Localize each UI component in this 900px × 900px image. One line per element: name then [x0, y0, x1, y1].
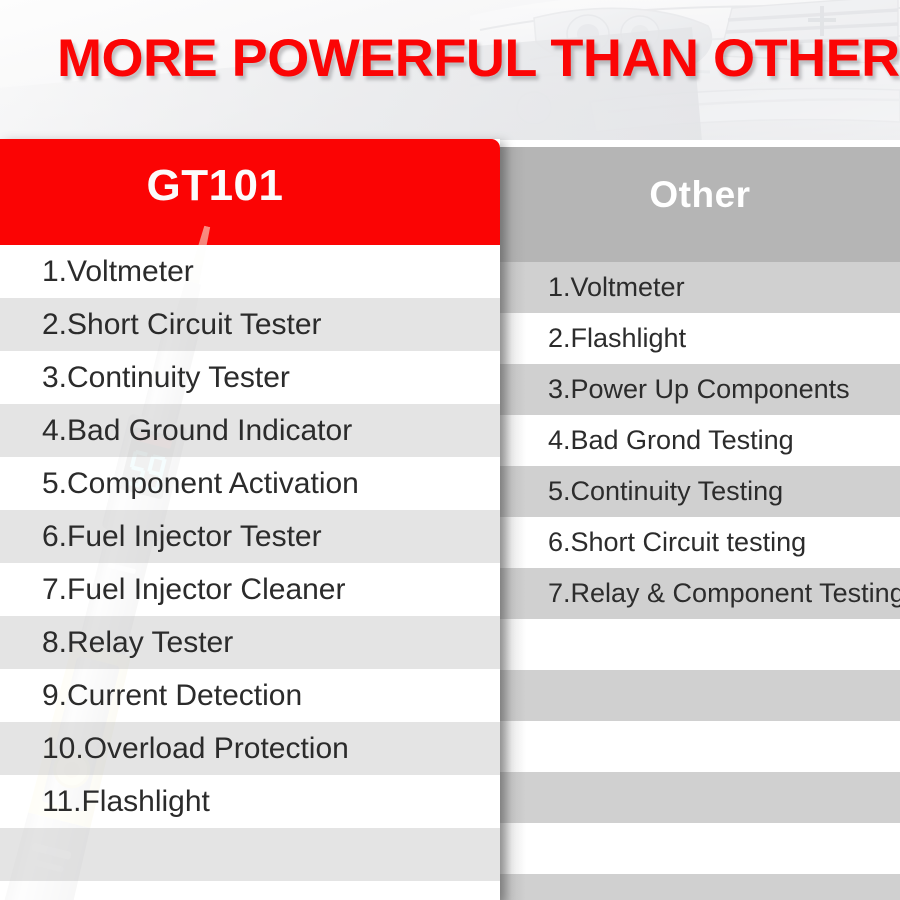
list-item: 5.Continuity Testing	[500, 466, 900, 517]
product-comparison-infographic: MORE POWERFUL THAN OTHERS Other 1.Voltme…	[0, 0, 900, 900]
other-item-label: 2.Flashlight	[548, 323, 686, 354]
list-item: 6.Short Circuit testing	[500, 517, 900, 568]
gt101-item-label: 10.Overload Protection	[42, 732, 349, 766]
list-item: 6.Fuel Injector Tester	[0, 510, 500, 563]
list-item: 1.Voltmeter	[0, 245, 500, 298]
gt101-item-label: 8.Relay Tester	[42, 626, 233, 660]
other-item-label: 3.Power Up Components	[548, 374, 850, 405]
list-item: 4.Bad Grond Testing	[500, 415, 900, 466]
other-feature-list: 1.Voltmeter 2.Flashlight 3.Power Up Comp…	[500, 262, 900, 900]
list-item-empty	[500, 619, 900, 670]
list-item: 3.Continuity Tester	[0, 351, 500, 404]
list-item: 10.Overload Protection	[0, 722, 500, 775]
gt101-feature-list: 1.Voltmeter 2.Short Circuit Tester 3.Con…	[0, 245, 500, 900]
list-item: 2.Short Circuit Tester	[0, 298, 500, 351]
other-item-label: 1.Voltmeter	[548, 272, 685, 303]
gt101-item-label: 3.Continuity Tester	[42, 361, 290, 395]
list-item-empty	[500, 874, 900, 900]
list-item: 8.Relay Tester	[0, 616, 500, 669]
list-item: 11.Flashlight	[0, 775, 500, 828]
list-item-empty	[0, 828, 500, 881]
list-item-empty	[500, 823, 900, 874]
other-column-header: Other	[500, 147, 900, 262]
other-item-label: 4.Bad Grond Testing	[548, 425, 794, 456]
list-item-empty	[0, 881, 500, 900]
other-item-label: 5.Continuity Testing	[548, 476, 783, 507]
hero-banner: MORE POWERFUL THAN OTHERS	[0, 0, 900, 140]
list-item-empty	[500, 721, 900, 772]
gt101-column-header: GT101	[0, 139, 500, 245]
list-item: 7.Relay & Component Testing	[500, 568, 900, 619]
gt101-item-label: 1.Voltmeter	[42, 255, 194, 289]
gt101-item-label: 2.Short Circuit Tester	[42, 308, 322, 342]
other-column-title: Other	[500, 174, 900, 216]
gt101-item-label: 7.Fuel Injector Cleaner	[42, 573, 346, 607]
gt101-item-label: 9.Current Detection	[42, 679, 302, 713]
gt101-column-title: GT101	[0, 161, 430, 211]
list-item: 9.Current Detection	[0, 669, 500, 722]
gt101-item-label: 5.Component Activation	[42, 467, 359, 501]
gt101-item-label: 4.Bad Ground Indicator	[42, 414, 352, 448]
comparison-column-other: Other 1.Voltmeter 2.Flashlight 3.Power U…	[500, 147, 900, 900]
list-item: 2.Flashlight	[500, 313, 900, 364]
gt101-item-label: 6.Fuel Injector Tester	[42, 520, 322, 554]
comparison-column-gt101: GT101	[0, 139, 500, 900]
list-item-empty	[500, 670, 900, 721]
list-item: 4.Bad Ground Indicator	[0, 404, 500, 457]
page-title: MORE POWERFUL THAN OTHERS	[57, 30, 900, 88]
list-item: 1.Voltmeter	[500, 262, 900, 313]
list-item: 5.Component Activation	[0, 457, 500, 510]
list-item: 7.Fuel Injector Cleaner	[0, 563, 500, 616]
other-item-label: 7.Relay & Component Testing	[548, 578, 900, 609]
other-item-label: 6.Short Circuit testing	[548, 527, 806, 558]
gt101-item-label: 11.Flashlight	[42, 785, 210, 819]
list-item: 3.Power Up Components	[500, 364, 900, 415]
list-item-empty	[500, 772, 900, 823]
